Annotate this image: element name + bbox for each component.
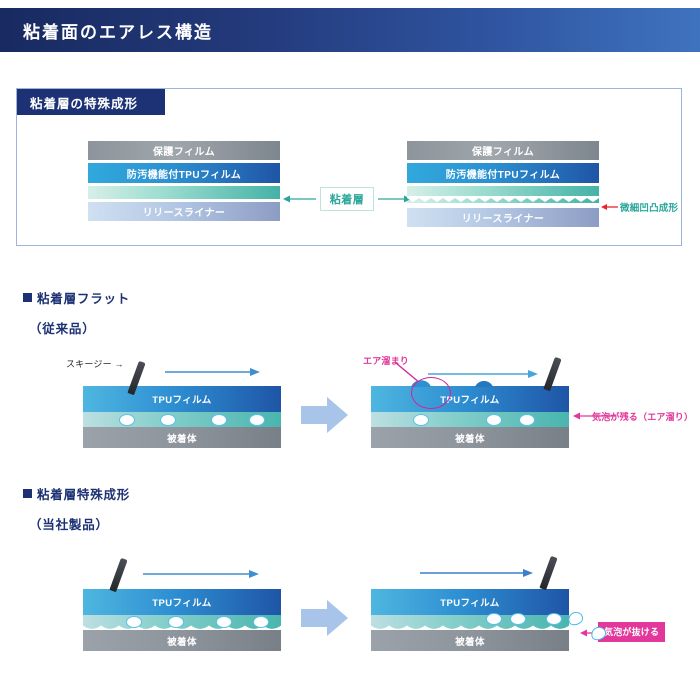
- air-bubble: [211, 414, 227, 426]
- layer-protect-film: 保護フィルム: [407, 141, 599, 160]
- squeegee-blade-icon: [539, 556, 557, 590]
- air-bubble: [519, 414, 535, 426]
- flat-adhesive-stack: 保護フィルム 防汚機能付TPUフィルム リリースライナー: [88, 141, 280, 224]
- page-header: 粘着面のエアレス構造: [0, 8, 700, 52]
- layer-tpu-film: 防汚機能付TPUフィルム: [407, 163, 599, 183]
- air-bubble: [249, 414, 265, 426]
- squeegee-label: スキージー →: [66, 357, 124, 370]
- layer-adhesive-textured: [407, 186, 599, 203]
- bubble-remains-label: 気泡が残る（エア溜り）: [592, 410, 693, 423]
- micro-texture-wave: [407, 196, 599, 204]
- air-bubble: [160, 414, 176, 426]
- air-bubble: [510, 613, 526, 625]
- air-bubble: [413, 414, 429, 426]
- layer-label: リリースライナー: [143, 204, 226, 219]
- diagram-substrate-layer: 被着体: [371, 630, 569, 651]
- direction-arrow-icon: [165, 366, 260, 378]
- section-textured-heading-line1: 粘着層特殊成形: [23, 484, 130, 503]
- diagram-tpu-label: TPUフィルム: [152, 392, 211, 406]
- flat-after-diagram: TPUフィルム 被着体: [371, 386, 569, 442]
- layer-tpu-film: 防汚機能付TPUフィルム: [88, 163, 280, 183]
- layer-label: 防汚機能付TPUフィルム: [127, 166, 241, 181]
- micro-texture-note: 微細凹凸成形: [620, 200, 678, 214]
- micro-note-arrow-icon: [601, 202, 619, 212]
- callout-arrow-right-icon: [377, 192, 411, 206]
- bubble-escapes-label: 気泡が抜ける: [598, 622, 665, 642]
- diagram-substrate-layer: 被着体: [83, 427, 281, 448]
- direction-arrow-icon: [143, 568, 259, 580]
- layer-label: 保護フィルム: [472, 143, 534, 158]
- layer-label: 保護フィルム: [153, 143, 215, 158]
- diagram-tpu-label: TPUフィルム: [152, 595, 211, 609]
- diagram-substrate-layer: 被着体: [371, 427, 569, 448]
- diagram-tpu-layer: TPUフィルム: [371, 589, 569, 615]
- textured-adhesive-stack: 保護フィルム 防汚機能付TPUフィルム リリースライナー: [407, 141, 599, 230]
- section-flat-heading: 粘着層フラット （従来品）: [23, 288, 130, 337]
- air-bubble: [486, 613, 502, 625]
- layer-adhesive-flat: [88, 186, 280, 199]
- squeegee-blade-icon: [109, 558, 127, 592]
- adhesive-layer-callout: 粘着層: [320, 187, 374, 211]
- diagram-tpu-layer: TPUフィルム: [83, 386, 281, 412]
- diagram-substrate-label: 被着体: [455, 634, 485, 648]
- bullet-square-icon: [23, 293, 32, 302]
- section-flat-heading-line1: 粘着層フラット: [23, 288, 130, 307]
- diagram-adhesive-layer: [371, 412, 569, 427]
- panel-tab-label: 粘着層の特殊成形: [30, 93, 138, 112]
- air-bubble: [546, 613, 562, 625]
- section-flat-heading-line2: （従来品）: [29, 318, 130, 337]
- layer-release-liner: リリースライナー: [407, 208, 599, 227]
- escaping-bubble: [566, 610, 584, 627]
- direction-arrow-icon: [428, 368, 538, 380]
- textured-after-diagram: TPUフィルム 被着体: [371, 589, 569, 645]
- process-block-arrow-icon: [301, 598, 349, 638]
- air-bubble: [486, 414, 502, 426]
- air-bubble: [216, 616, 232, 628]
- section-textured-heading-line2: （当社製品）: [29, 514, 130, 533]
- air-bubble: [126, 616, 142, 628]
- diagram-substrate-label: 被着体: [167, 634, 197, 648]
- bullet-square-icon: [23, 489, 32, 498]
- diagram-substrate-label: 被着体: [455, 431, 485, 445]
- textured-before-diagram: TPUフィルム 被着体: [83, 589, 281, 645]
- diagram-tpu-label: TPUフィルム: [440, 595, 499, 609]
- diagram-substrate-label: 被着体: [167, 431, 197, 445]
- air-bubble: [119, 414, 135, 426]
- air-bubble: [168, 616, 184, 628]
- direction-arrow-icon: [420, 567, 533, 579]
- air-pocket-highlight-circle: [411, 377, 451, 409]
- diagram-tpu-layer: TPUフィルム: [371, 386, 569, 412]
- layer-label: 防汚機能付TPUフィルム: [446, 166, 560, 181]
- process-block-arrow-icon: [301, 395, 349, 435]
- layer-label: リリースライナー: [462, 210, 545, 225]
- air-bubble: [253, 616, 269, 628]
- page-title: 粘着面のエアレス構造: [23, 18, 213, 43]
- callout-arrow-left-icon: [283, 192, 317, 206]
- diagram-adhesive-layer: [371, 615, 569, 630]
- flat-before-diagram: TPUフィルム 被着体: [83, 386, 281, 442]
- panel-tab: 粘着層の特殊成形: [17, 89, 165, 115]
- adhesive-layer-callout-label: 粘着層: [330, 191, 365, 207]
- diagram-tpu-layer: TPUフィルム: [83, 589, 281, 615]
- layer-protect-film: 保護フィルム: [88, 141, 280, 160]
- diagram-substrate-layer: 被着体: [83, 630, 281, 651]
- section-textured-heading: 粘着層特殊成形 （当社製品）: [23, 484, 130, 533]
- layer-release-liner: リリースライナー: [88, 202, 280, 221]
